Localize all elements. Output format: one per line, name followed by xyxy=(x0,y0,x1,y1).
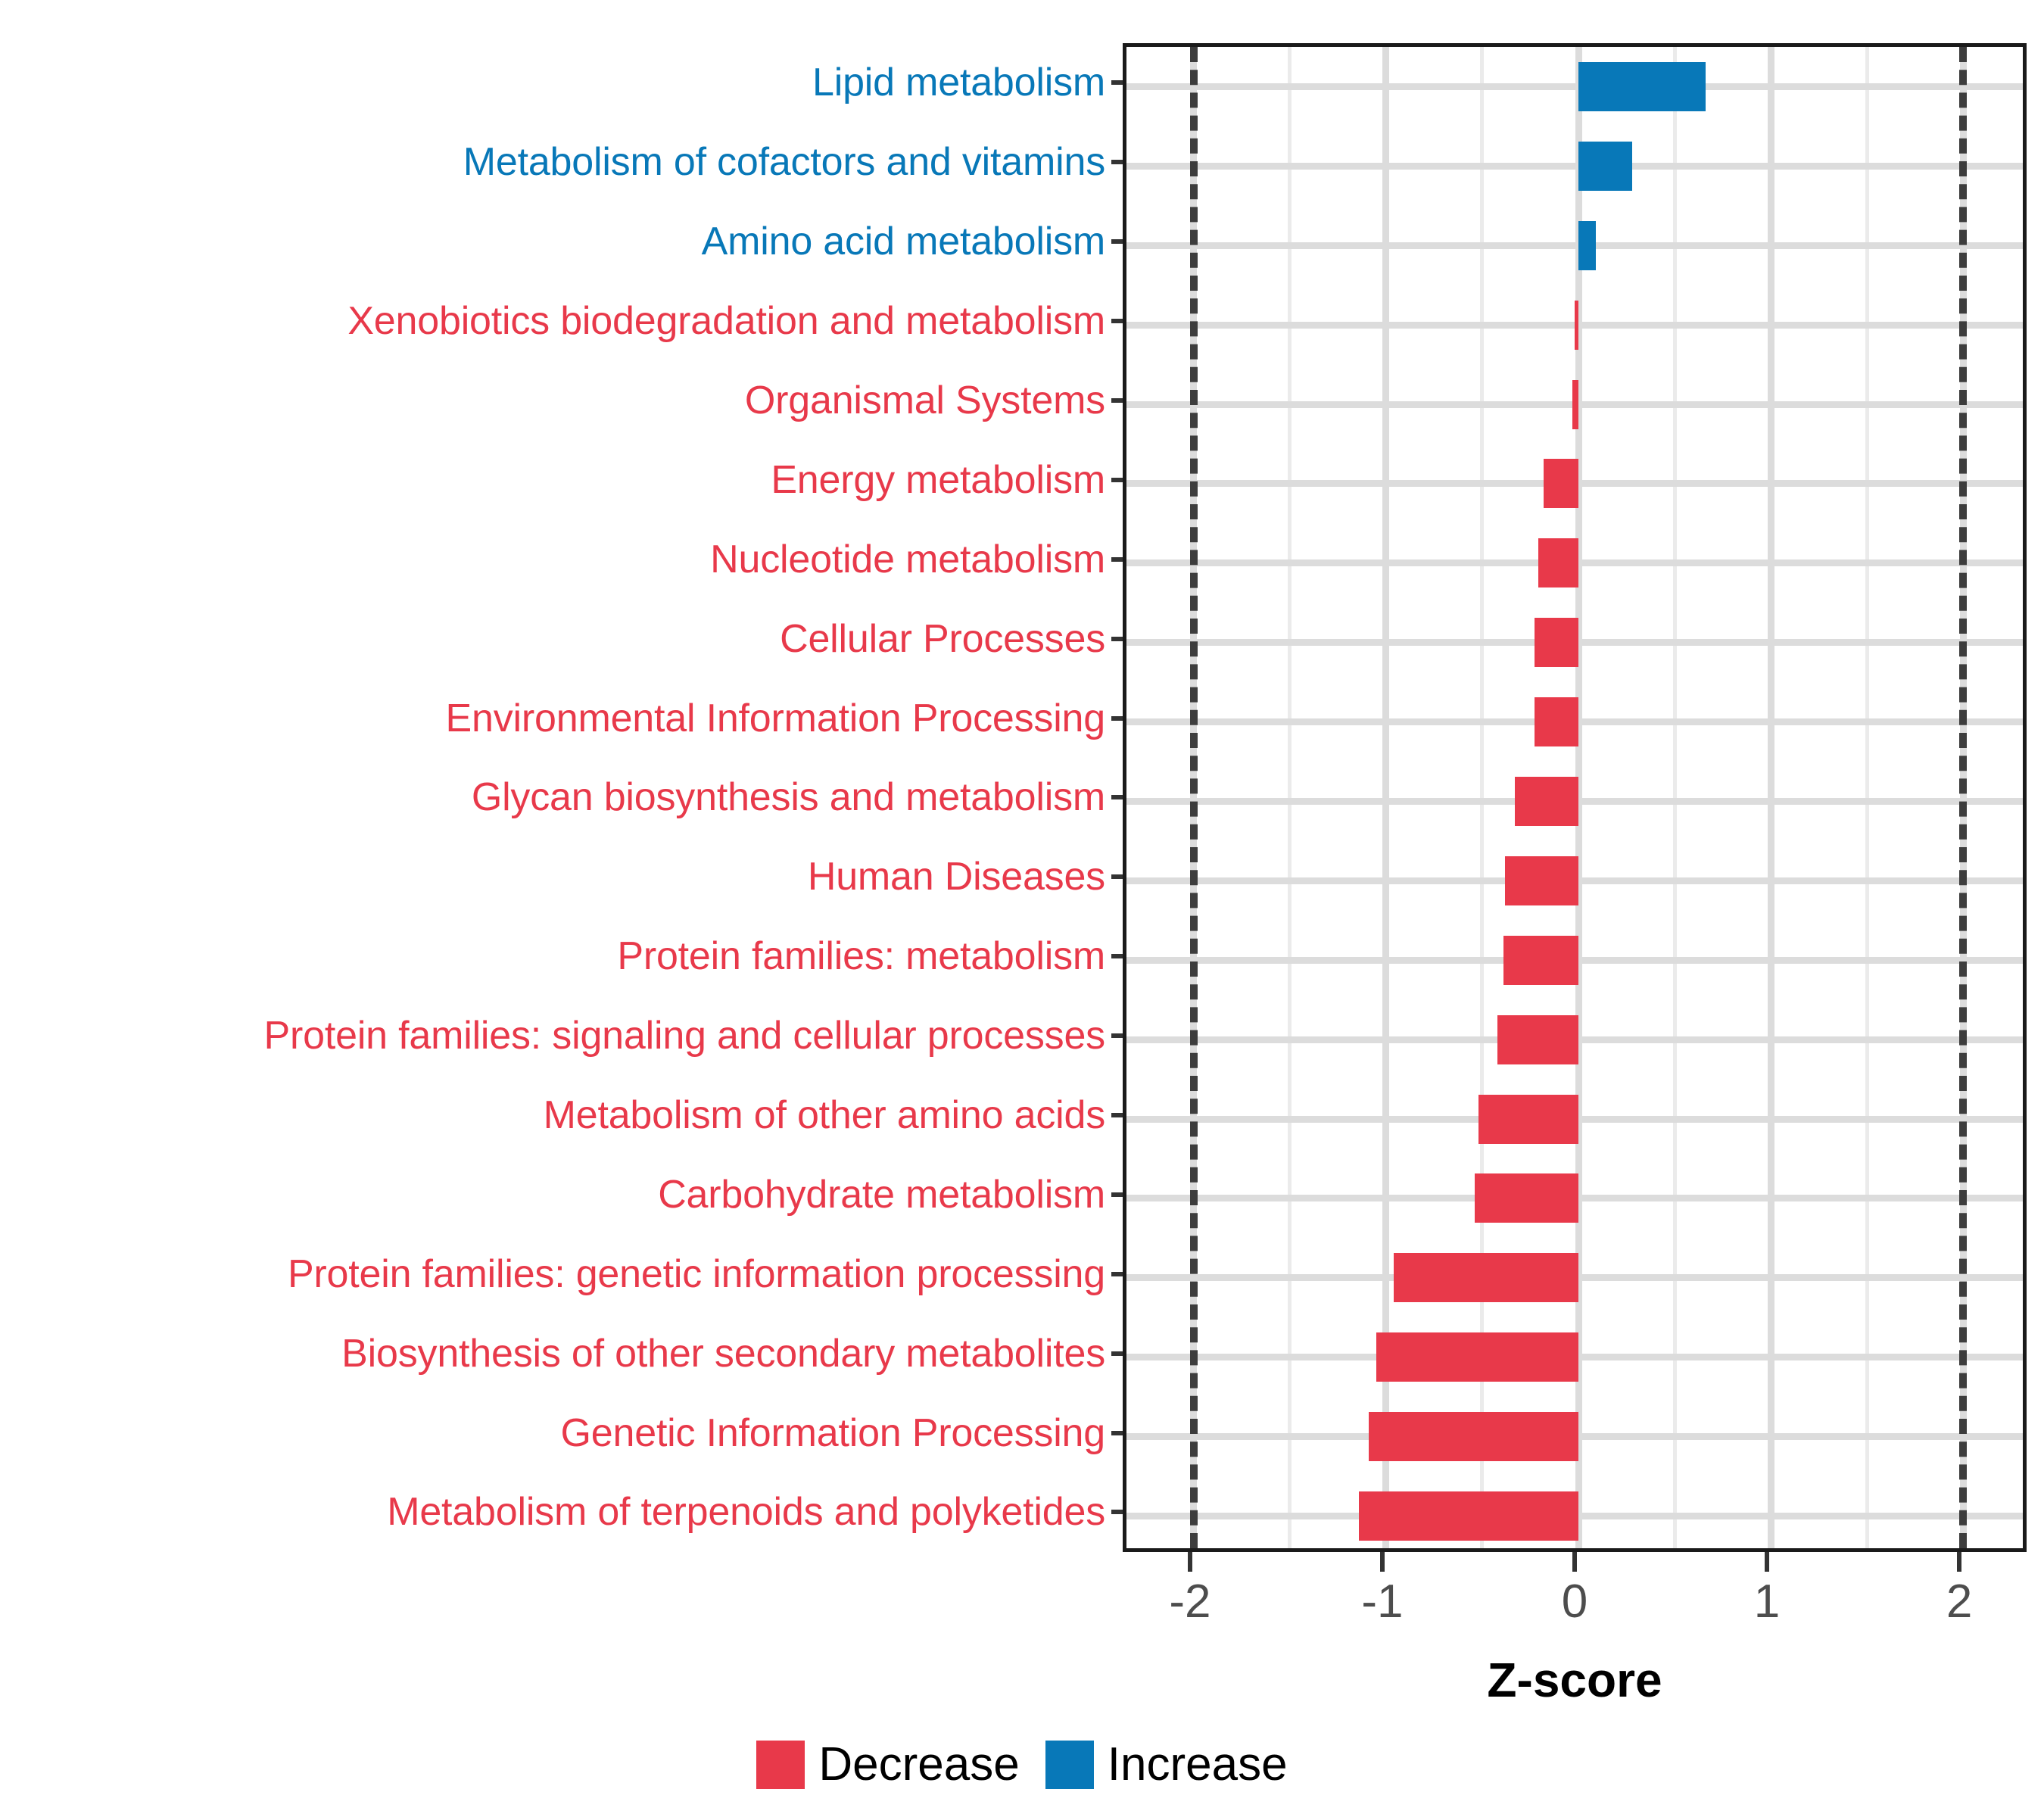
y-axis-label: Metabolism of terpenoids and polyketides xyxy=(387,1492,1105,1532)
bar xyxy=(1497,1015,1578,1064)
kegg-zscore-bar-chart: Lipid metabolismMetabolism of cofactors … xyxy=(0,0,2044,1817)
y-axis-label: Protein families: genetic information pr… xyxy=(288,1254,1105,1294)
y-axis-tick-row xyxy=(1111,1155,1123,1234)
y-axis-label-row: Environmental Information Processing xyxy=(0,678,1111,758)
bar xyxy=(1503,936,1578,985)
x-axis-tick-label: 2 xyxy=(1946,1575,1972,1628)
y-axis-label-row: Metabolism of terpenoids and polyketides xyxy=(0,1473,1111,1552)
y-axis-tick-row xyxy=(1111,282,1123,361)
y-axis-tick-mark xyxy=(1111,557,1123,562)
y-axis-label-row: Protein families: genetic information pr… xyxy=(0,1234,1111,1314)
y-axis-tick-row xyxy=(1111,996,1123,1076)
bar xyxy=(1538,538,1578,587)
y-axis-label-row: Carbohydrate metabolism xyxy=(0,1155,1111,1234)
legend-swatch-decrease xyxy=(756,1741,805,1789)
y-axis-label: Energy metabolism xyxy=(771,460,1105,500)
bar-series xyxy=(1126,47,2023,1548)
y-axis-label: Carbohydrate metabolism xyxy=(658,1175,1105,1214)
bar xyxy=(1578,221,1596,270)
y-axis-tick-row xyxy=(1111,123,1123,202)
y-axis-label-row: Metabolism of cofactors and vitamins xyxy=(0,123,1111,202)
x-axis-tick-mark xyxy=(1188,1552,1192,1572)
y-axis-label-row: Amino acid metabolism xyxy=(0,202,1111,282)
x-axis-title: Z-score xyxy=(1123,1652,2027,1708)
y-axis-label-row: Glycan biosynthesis and metabolism xyxy=(0,758,1111,837)
y-axis-label-row: Organismal Systems xyxy=(0,361,1111,441)
y-axis-tick-row xyxy=(1111,519,1123,599)
legend: DecreaseIncrease xyxy=(0,1738,2044,1791)
x-axis-tick-mark xyxy=(1380,1552,1385,1572)
y-axis-label: Protein families: metabolism xyxy=(617,937,1105,976)
legend-item[interactable]: Increase xyxy=(1045,1738,1288,1791)
y-axis-label: Human Diseases xyxy=(808,857,1105,896)
y-axis-label-row: Lipid metabolism xyxy=(0,43,1111,123)
y-axis-tick-row xyxy=(1111,837,1123,917)
y-axis-label-row: Protein families: metabolism xyxy=(0,917,1111,996)
y-axis-tick-row xyxy=(1111,678,1123,758)
bar xyxy=(1535,618,1578,667)
y-axis-ticks xyxy=(1111,43,1123,1552)
x-axis-tick-label: 0 xyxy=(1562,1575,1588,1628)
y-axis-tick-mark xyxy=(1111,398,1123,403)
y-axis-tick-mark xyxy=(1111,1351,1123,1356)
y-axis-label: Environmental Information Processing xyxy=(446,699,1105,738)
y-axis-label-row: Genetic Information Processing xyxy=(0,1393,1111,1473)
y-axis-label: Organismal Systems xyxy=(745,381,1105,420)
y-axis-tick-mark xyxy=(1111,160,1123,164)
x-axis-tick-label: -1 xyxy=(1361,1575,1403,1628)
y-axis-tick-mark xyxy=(1111,80,1123,85)
y-axis-tick-mark xyxy=(1111,478,1123,482)
x-axis-tick-mark xyxy=(1765,1552,1769,1572)
y-axis-tick-row xyxy=(1111,917,1123,996)
bar xyxy=(1475,1173,1578,1223)
y-axis-tick-row xyxy=(1111,1314,1123,1393)
y-axis-tick-mark xyxy=(1111,1510,1123,1514)
y-axis-label-row: Protein families: signaling and cellular… xyxy=(0,996,1111,1076)
y-axis-tick-mark xyxy=(1111,1431,1123,1435)
y-axis-label-row: Human Diseases xyxy=(0,837,1111,917)
bar xyxy=(1515,777,1578,826)
y-axis-tick-mark xyxy=(1111,716,1123,721)
y-axis-label-row: Energy metabolism xyxy=(0,440,1111,519)
bar xyxy=(1376,1332,1578,1382)
y-axis-labels: Lipid metabolismMetabolism of cofactors … xyxy=(0,43,1111,1552)
x-axis-tick-mark xyxy=(1572,1552,1577,1572)
bar xyxy=(1369,1412,1578,1461)
y-axis-label: Glycan biosynthesis and metabolism xyxy=(472,778,1105,817)
y-axis-tick-row xyxy=(1111,440,1123,519)
x-axis-tick-mark xyxy=(1957,1552,1961,1572)
y-axis-label: Genetic Information Processing xyxy=(561,1413,1105,1453)
y-axis-tick-row xyxy=(1111,361,1123,441)
y-axis-label-row: Xenobiotics biodegradation and metabolis… xyxy=(0,282,1111,361)
y-axis-tick-mark xyxy=(1111,1272,1123,1276)
y-axis-label-row: Cellular Processes xyxy=(0,599,1111,678)
bar xyxy=(1575,301,1578,350)
y-axis-tick-row xyxy=(1111,1076,1123,1155)
bar xyxy=(1572,380,1578,429)
legend-label: Increase xyxy=(1108,1738,1288,1791)
bar xyxy=(1578,142,1632,191)
y-axis-label-row: Metabolism of other amino acids xyxy=(0,1076,1111,1155)
y-axis-label: Metabolism of cofactors and vitamins xyxy=(463,142,1105,182)
y-axis-tick-mark xyxy=(1111,874,1123,879)
legend-label: Decrease xyxy=(818,1738,1019,1791)
y-axis-tick-mark xyxy=(1111,1113,1123,1117)
bar xyxy=(1544,459,1578,508)
y-axis-tick-row xyxy=(1111,599,1123,678)
y-axis-label: Xenobiotics biodegradation and metabolis… xyxy=(347,301,1105,341)
x-axis-tick-label: -2 xyxy=(1169,1575,1211,1628)
bar xyxy=(1394,1253,1578,1302)
y-axis-tick-mark xyxy=(1111,1192,1123,1197)
bar xyxy=(1359,1491,1578,1541)
bar xyxy=(1478,1095,1578,1144)
bar xyxy=(1535,697,1578,746)
y-axis-tick-mark xyxy=(1111,954,1123,958)
plot-panel-inner xyxy=(1126,47,2023,1548)
y-axis-tick-mark xyxy=(1111,795,1123,799)
y-axis-label-row: Biosynthesis of other secondary metaboli… xyxy=(0,1314,1111,1393)
y-axis-tick-row xyxy=(1111,1234,1123,1314)
x-axis: -2-1012 xyxy=(1123,1552,2027,1575)
y-axis-label: Metabolism of other amino acids xyxy=(544,1095,1105,1135)
y-axis-label: Nucleotide metabolism xyxy=(710,540,1105,579)
y-axis-tick-row xyxy=(1111,202,1123,282)
y-axis-label-row: Nucleotide metabolism xyxy=(0,519,1111,599)
y-axis-tick-mark xyxy=(1111,1033,1123,1038)
y-axis-tick-mark xyxy=(1111,319,1123,323)
y-axis-label: Lipid metabolism xyxy=(812,63,1105,102)
y-axis-tick-row xyxy=(1111,758,1123,837)
legend-item[interactable]: Decrease xyxy=(756,1738,1019,1791)
y-axis-tick-mark xyxy=(1111,637,1123,641)
y-axis-label: Biosynthesis of other secondary metaboli… xyxy=(341,1334,1105,1373)
plot-panel xyxy=(1123,43,2027,1552)
y-axis-tick-row xyxy=(1111,43,1123,123)
legend-swatch-increase xyxy=(1045,1741,1094,1789)
bar xyxy=(1578,62,1706,111)
y-axis-label: Amino acid metabolism xyxy=(702,222,1105,261)
y-axis-label: Cellular Processes xyxy=(780,619,1105,659)
y-axis-tick-mark xyxy=(1111,239,1123,244)
y-axis-label: Protein families: signaling and cellular… xyxy=(264,1016,1105,1055)
y-axis-tick-row xyxy=(1111,1473,1123,1552)
y-axis-tick-row xyxy=(1111,1393,1123,1473)
x-axis-tick-label: 1 xyxy=(1754,1575,1780,1628)
bar xyxy=(1505,856,1578,905)
